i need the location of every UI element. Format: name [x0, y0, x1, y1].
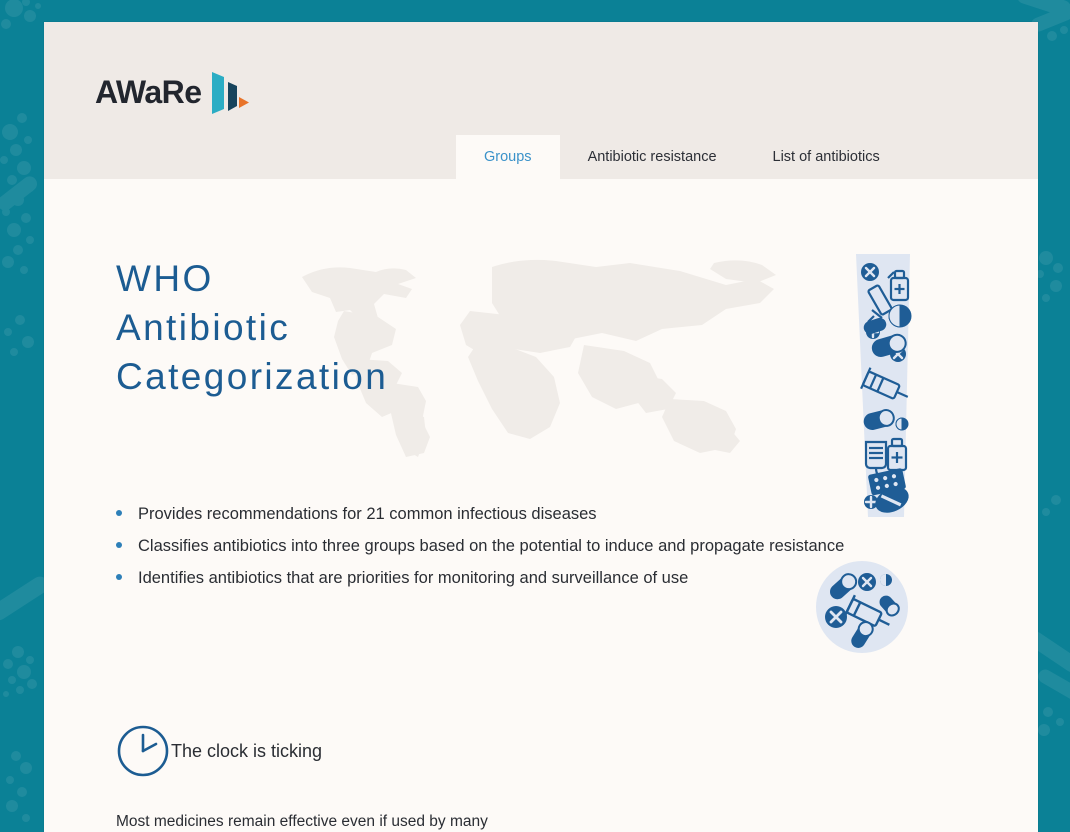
clock-section: The clock is ticking Most medicines rema…	[116, 724, 516, 832]
page-title-line-1: WHO	[116, 254, 388, 303]
medicine-icons-banner	[812, 254, 912, 521]
clock-icon	[116, 724, 170, 778]
site-logo[interactable]: AWaRe	[95, 68, 250, 116]
tab-groups[interactable]: Groups	[456, 135, 560, 179]
tab-list-of-antibiotics-label: List of antibiotics	[773, 149, 880, 165]
list-item: Classifies antibiotics into three groups…	[116, 536, 956, 556]
tab-list-of-antibiotics[interactable]: List of antibiotics	[745, 135, 908, 179]
page-title-line-2: Antibiotic	[116, 303, 388, 352]
aware-logo-mark-icon	[210, 68, 250, 116]
bullet-text: Provides recommendations for 21 common i…	[138, 504, 597, 524]
bullet-text: Classifies antibiotics into three groups…	[138, 536, 844, 556]
tab-antibiotic-resistance-label: Antibiotic resistance	[588, 149, 717, 165]
medicine-icons-circle	[814, 559, 910, 655]
tabbar-left-spacer	[44, 135, 456, 179]
clock-heading-row: The clock is ticking	[116, 724, 516, 778]
main-content: WHO Antibiotic Categorization Provides r…	[44, 179, 1038, 832]
logo-text: AWaRe	[95, 76, 202, 108]
site-header: AWaRe Groups Antibiotic resistance List …	[44, 22, 1038, 157]
main-tab-bar: Groups Antibiotic resistance List of ant…	[44, 135, 1038, 179]
page-title-line-3: Categorization	[116, 352, 388, 401]
clock-body-text: Most medicines remain effective even if …	[116, 808, 516, 832]
bullet-dot-icon	[116, 574, 122, 580]
page-sheet: AWaRe Groups Antibiotic resistance List …	[44, 22, 1038, 832]
tab-groups-label: Groups	[484, 149, 532, 165]
tabbar-right-fill	[908, 135, 1038, 179]
clock-heading: The clock is ticking	[171, 741, 322, 762]
page-title: WHO Antibiotic Categorization	[116, 254, 388, 401]
bullet-text: Identifies antibiotics that are prioriti…	[138, 568, 688, 588]
tab-antibiotic-resistance[interactable]: Antibiotic resistance	[560, 135, 745, 179]
bullet-dot-icon	[116, 542, 122, 548]
bullet-dot-icon	[116, 510, 122, 516]
